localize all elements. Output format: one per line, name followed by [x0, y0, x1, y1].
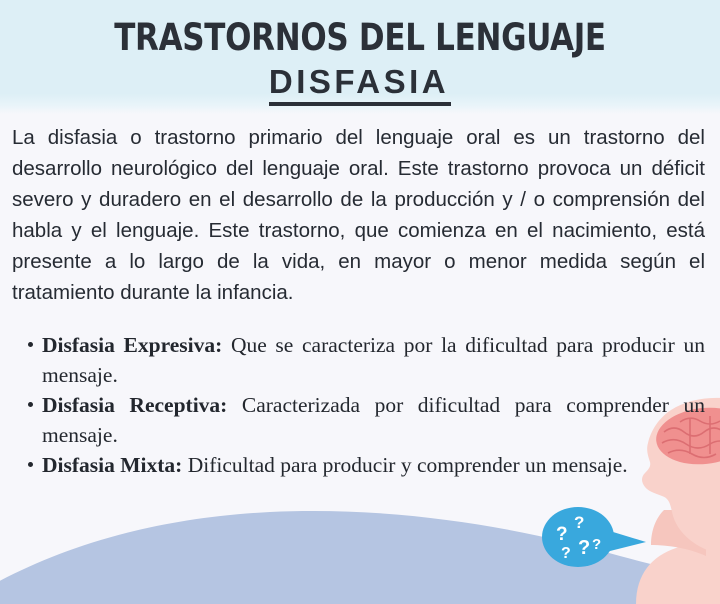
- question-mark-icon: ?: [578, 537, 590, 559]
- question-mark-icon: ?: [592, 536, 601, 553]
- dysphasia-type-list: Disfasia Expresiva: Que se caracteriza p…: [0, 330, 720, 480]
- question-mark-icon: ?: [556, 524, 568, 545]
- title-block: TRASTORNOS DEL LENGUAJE DISFASIA: [0, 0, 720, 106]
- list-item-term: Disfasia Receptiva:: [42, 393, 227, 417]
- list-item: Disfasia Expresiva: Que se caracteriza p…: [42, 330, 705, 390]
- list-item-description: Dificultad para producir y comprender un…: [182, 453, 627, 477]
- infographic-page: ? ? ? ? ? TRASTORNOS DEL LENGUAJE DISFAS…: [0, 0, 720, 604]
- speech-bubble-body: [542, 507, 614, 567]
- page-title-secondary: DISFASIA: [269, 63, 451, 106]
- list-item-term: Disfasia Expresiva:: [42, 333, 222, 357]
- question-mark-icon: ?: [561, 545, 571, 562]
- speech-bubble: ? ? ? ? ?: [542, 507, 646, 567]
- figure-shoulder: [636, 542, 720, 604]
- list-item: Disfasia Mixta: Dificultad para producir…: [42, 450, 705, 480]
- speech-bubble-tail: [598, 528, 646, 554]
- list-item-term: Disfasia Mixta:: [42, 453, 182, 477]
- page-title-primary: TRASTORNOS DEL LENGUAJE: [25, 17, 695, 59]
- figure-neck: [651, 510, 706, 556]
- content-area: La disfasia o trastorno primario del len…: [0, 114, 720, 480]
- intro-paragraph: La disfasia o trastorno primario del len…: [0, 114, 720, 308]
- question-mark-icon: ?: [574, 513, 584, 532]
- wave-shape: [0, 511, 720, 604]
- list-item: Disfasia Receptiva: Caracterizada por di…: [42, 390, 705, 450]
- speech-bubble-question-marks: ? ? ? ? ?: [556, 513, 601, 562]
